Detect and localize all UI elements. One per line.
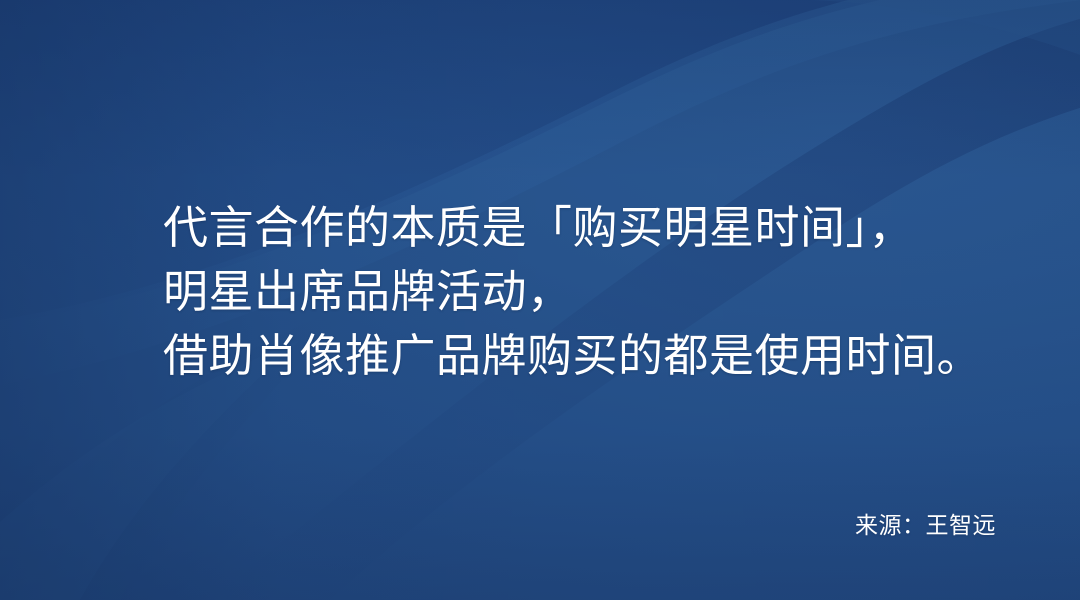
quote-line-2: 明星出席品牌活动， <box>163 260 983 324</box>
quote-text-block: 代言合作的本质是「购买明星时间」， 明星出席品牌活动， 借助肖像推广品牌购买的都… <box>163 196 983 388</box>
quote-line-1: 代言合作的本质是「购买明星时间」， <box>163 196 983 260</box>
quote-line-3: 借助肖像推广品牌购买的都是使用时间。 <box>163 324 983 388</box>
source-attribution: 来源：王智远 <box>855 511 996 541</box>
quote-slide: 代言合作的本质是「购买明星时间」， 明星出席品牌活动， 借助肖像推广品牌购买的都… <box>0 0 1080 600</box>
